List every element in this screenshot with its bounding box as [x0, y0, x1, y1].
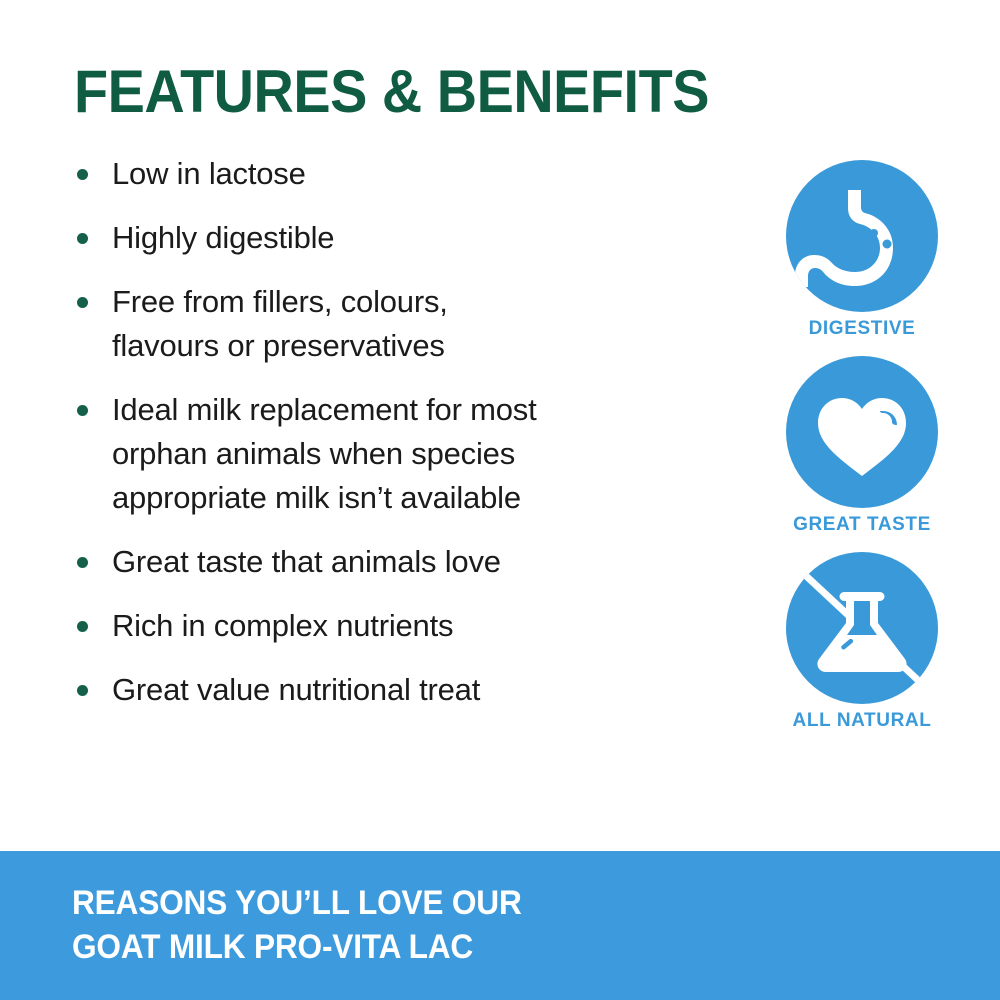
banner-line: REASONS YOU’LL LOVE OUR	[72, 881, 522, 925]
list-item-line: appropriate milk isn’t available	[112, 476, 714, 520]
list-item: Ideal milk replacement for most orphan a…	[74, 388, 714, 520]
bullet-dot-icon	[77, 557, 88, 568]
bullet-dot-icon	[77, 169, 88, 180]
list-item-line: orphan animals when species	[112, 432, 714, 476]
list-item-line: Highly digestible	[112, 216, 714, 260]
benefit-badge-digestive: DIGESTIVE	[762, 160, 962, 340]
list-item-line: Free from fillers, colours,	[112, 280, 714, 324]
list-item: Great taste that animals love	[74, 540, 714, 584]
page-title: FEATURES & BENEFITS	[74, 58, 709, 126]
bullet-dot-icon	[77, 405, 88, 416]
list-item-line: Great value nutritional treat	[112, 668, 714, 712]
benefit-icons-column: DIGESTIVE GREAT TASTE ALL	[762, 160, 962, 748]
benefit-label: ALL NATURAL	[762, 710, 962, 732]
list-item-line: flavours or preservatives	[112, 324, 714, 368]
list-item: Low in lactose	[74, 152, 714, 196]
list-item: Free from fillers, colours, flavours or …	[74, 280, 714, 368]
list-item: Great value nutritional treat	[74, 668, 714, 712]
list-item-line: Rich in complex nutrients	[112, 604, 714, 648]
product-feature-panel: FEATURES & BENEFITS Low in lactose Highl…	[0, 0, 1000, 1000]
no-flask-icon	[786, 552, 938, 704]
list-item: Rich in complex nutrients	[74, 604, 714, 648]
list-item-line: Great taste that animals love	[112, 540, 714, 584]
benefit-badge-all-natural: ALL NATURAL	[762, 552, 962, 732]
list-item: Highly digestible	[74, 216, 714, 260]
stomach-icon	[786, 160, 938, 312]
heart-icon	[786, 356, 938, 508]
benefit-label: GREAT TASTE	[762, 514, 962, 536]
list-item-line: Low in lactose	[112, 152, 714, 196]
list-item-line: Ideal milk replacement for most	[112, 388, 714, 432]
benefit-label: DIGESTIVE	[762, 318, 962, 340]
bullet-dot-icon	[77, 233, 88, 244]
bottom-banner: REASONS YOU’LL LOVE OUR GOAT MILK PRO-VI…	[0, 851, 1000, 1000]
features-list: Low in lactose Highly digestible Free fr…	[74, 152, 714, 732]
benefit-badge-great-taste: GREAT TASTE	[762, 356, 962, 536]
bullet-dot-icon	[77, 297, 88, 308]
bullet-dot-icon	[77, 621, 88, 632]
banner-heading: REASONS YOU’LL LOVE OUR GOAT MILK PRO-VI…	[72, 881, 522, 969]
banner-line: GOAT MILK PRO-VITA LAC	[72, 925, 522, 969]
bullet-dot-icon	[77, 685, 88, 696]
